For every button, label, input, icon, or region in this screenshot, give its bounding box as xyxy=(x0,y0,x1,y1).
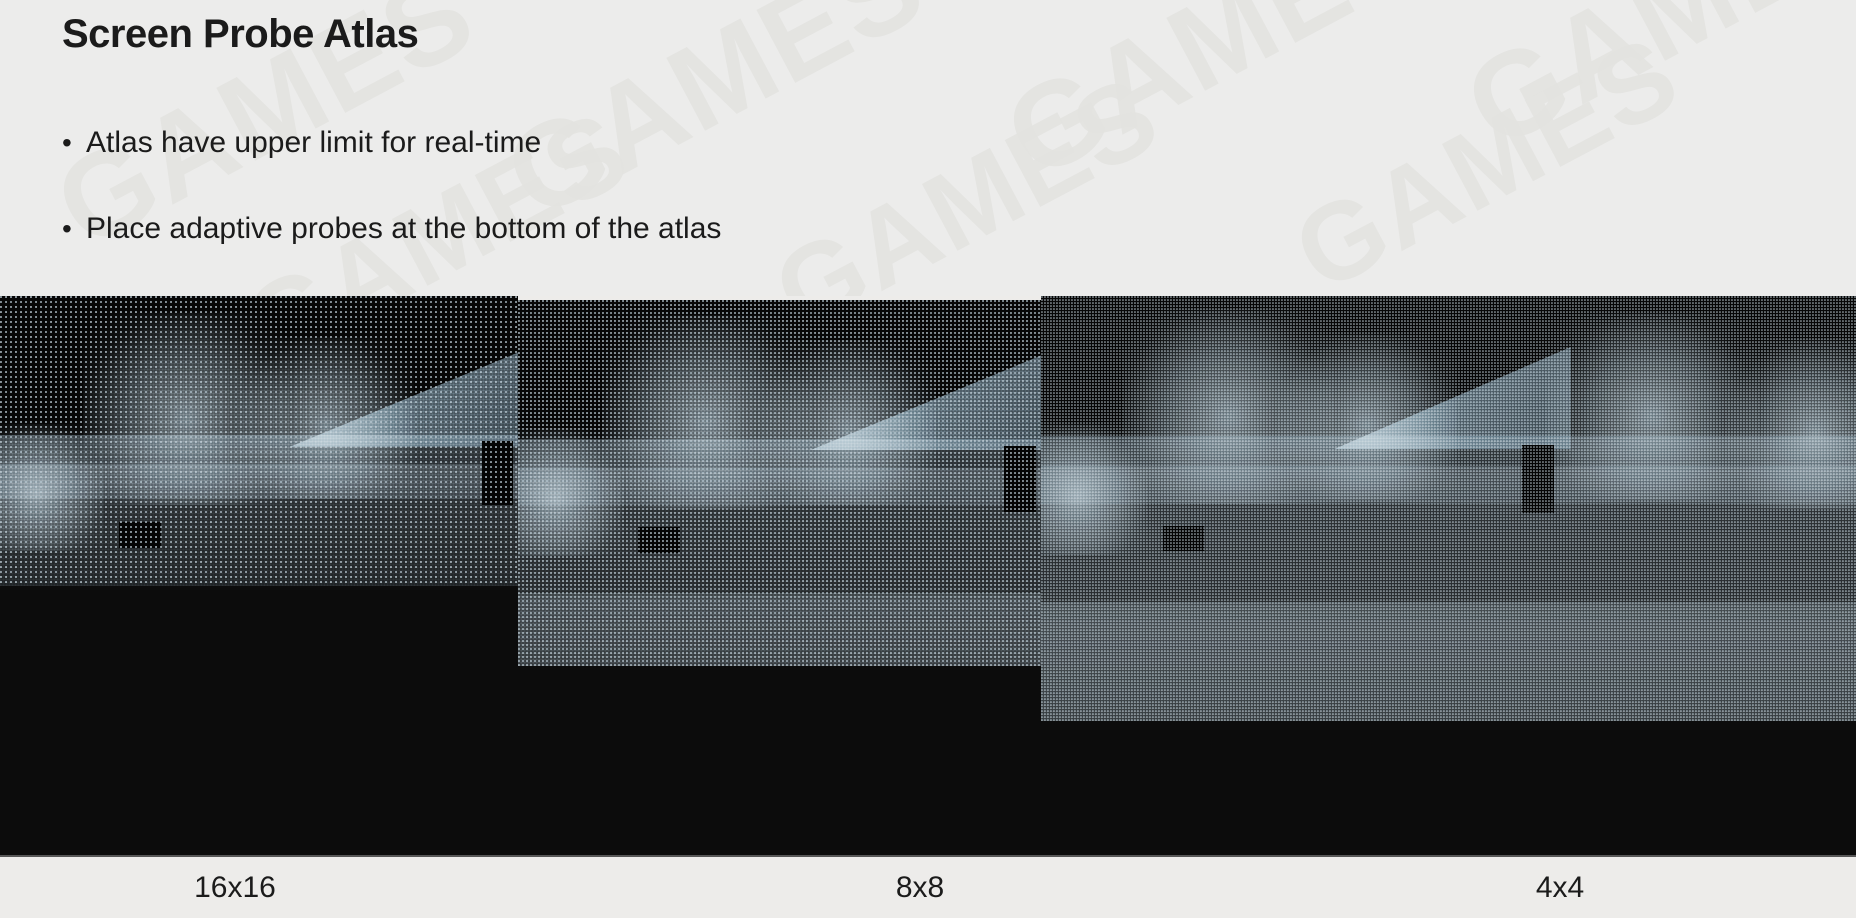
bullet-text: Place adaptive probes at the bottom of t… xyxy=(86,211,721,247)
atlas-empty-region xyxy=(0,586,518,857)
bullet-text: Atlas have upper limit for real-time xyxy=(86,125,541,161)
atlas-image xyxy=(1041,296,1856,721)
atlas-empty-region xyxy=(518,666,1041,857)
slide-root: GAMES GAMES GAMES GAMES GAMES GAMES GAME… xyxy=(0,0,1856,918)
scene-shadow xyxy=(638,527,680,553)
scene-tree xyxy=(1041,424,1147,556)
list-item: • Place adaptive probes at the bottom of… xyxy=(62,211,1262,247)
scene-adaptive-probe-band xyxy=(518,593,1041,666)
scene-window xyxy=(1522,445,1555,513)
scene-shadow xyxy=(119,522,160,548)
watermark-text: GAMES xyxy=(1444,0,1856,176)
list-item: • Atlas have upper limit for real-time xyxy=(62,125,1262,161)
scene-tree xyxy=(759,340,937,505)
caption-4x4: 4x4 xyxy=(1400,871,1720,905)
bullet-marker-icon: • xyxy=(62,211,86,247)
atlas-panel-8x8 xyxy=(518,300,1041,857)
scene-shadow xyxy=(1163,526,1204,552)
scene-adaptive-probe-band xyxy=(1041,602,1856,721)
bullet-marker-icon: • xyxy=(62,125,86,161)
scene-tree xyxy=(238,337,414,499)
atlas-panel-4x4 xyxy=(1041,296,1856,857)
atlas-figure-strip xyxy=(0,296,1856,857)
atlas-scene xyxy=(0,296,518,586)
scene-tree xyxy=(1726,339,1856,509)
slide-title: Screen Probe Atlas xyxy=(62,12,418,57)
atlas-image xyxy=(518,300,1041,666)
scene-tree xyxy=(0,424,104,552)
caption-row: 16x16 8x8 4x4 xyxy=(0,857,1856,918)
atlas-image xyxy=(0,296,518,586)
scene-tree xyxy=(1277,334,1456,500)
atlas-scene xyxy=(1041,296,1856,721)
scene-window xyxy=(482,441,513,505)
watermark-text: GAMES xyxy=(1274,10,1699,297)
scene-tree xyxy=(518,428,623,556)
scene-window xyxy=(1004,446,1035,512)
atlas-empty-region xyxy=(1041,721,1856,857)
caption-16x16: 16x16 xyxy=(0,871,470,905)
caption-8x8: 8x8 xyxy=(760,871,1080,905)
atlas-scene xyxy=(518,300,1041,666)
bullet-list: • Atlas have upper limit for real-time •… xyxy=(62,125,1262,297)
atlas-panel-16x16 xyxy=(0,296,518,857)
